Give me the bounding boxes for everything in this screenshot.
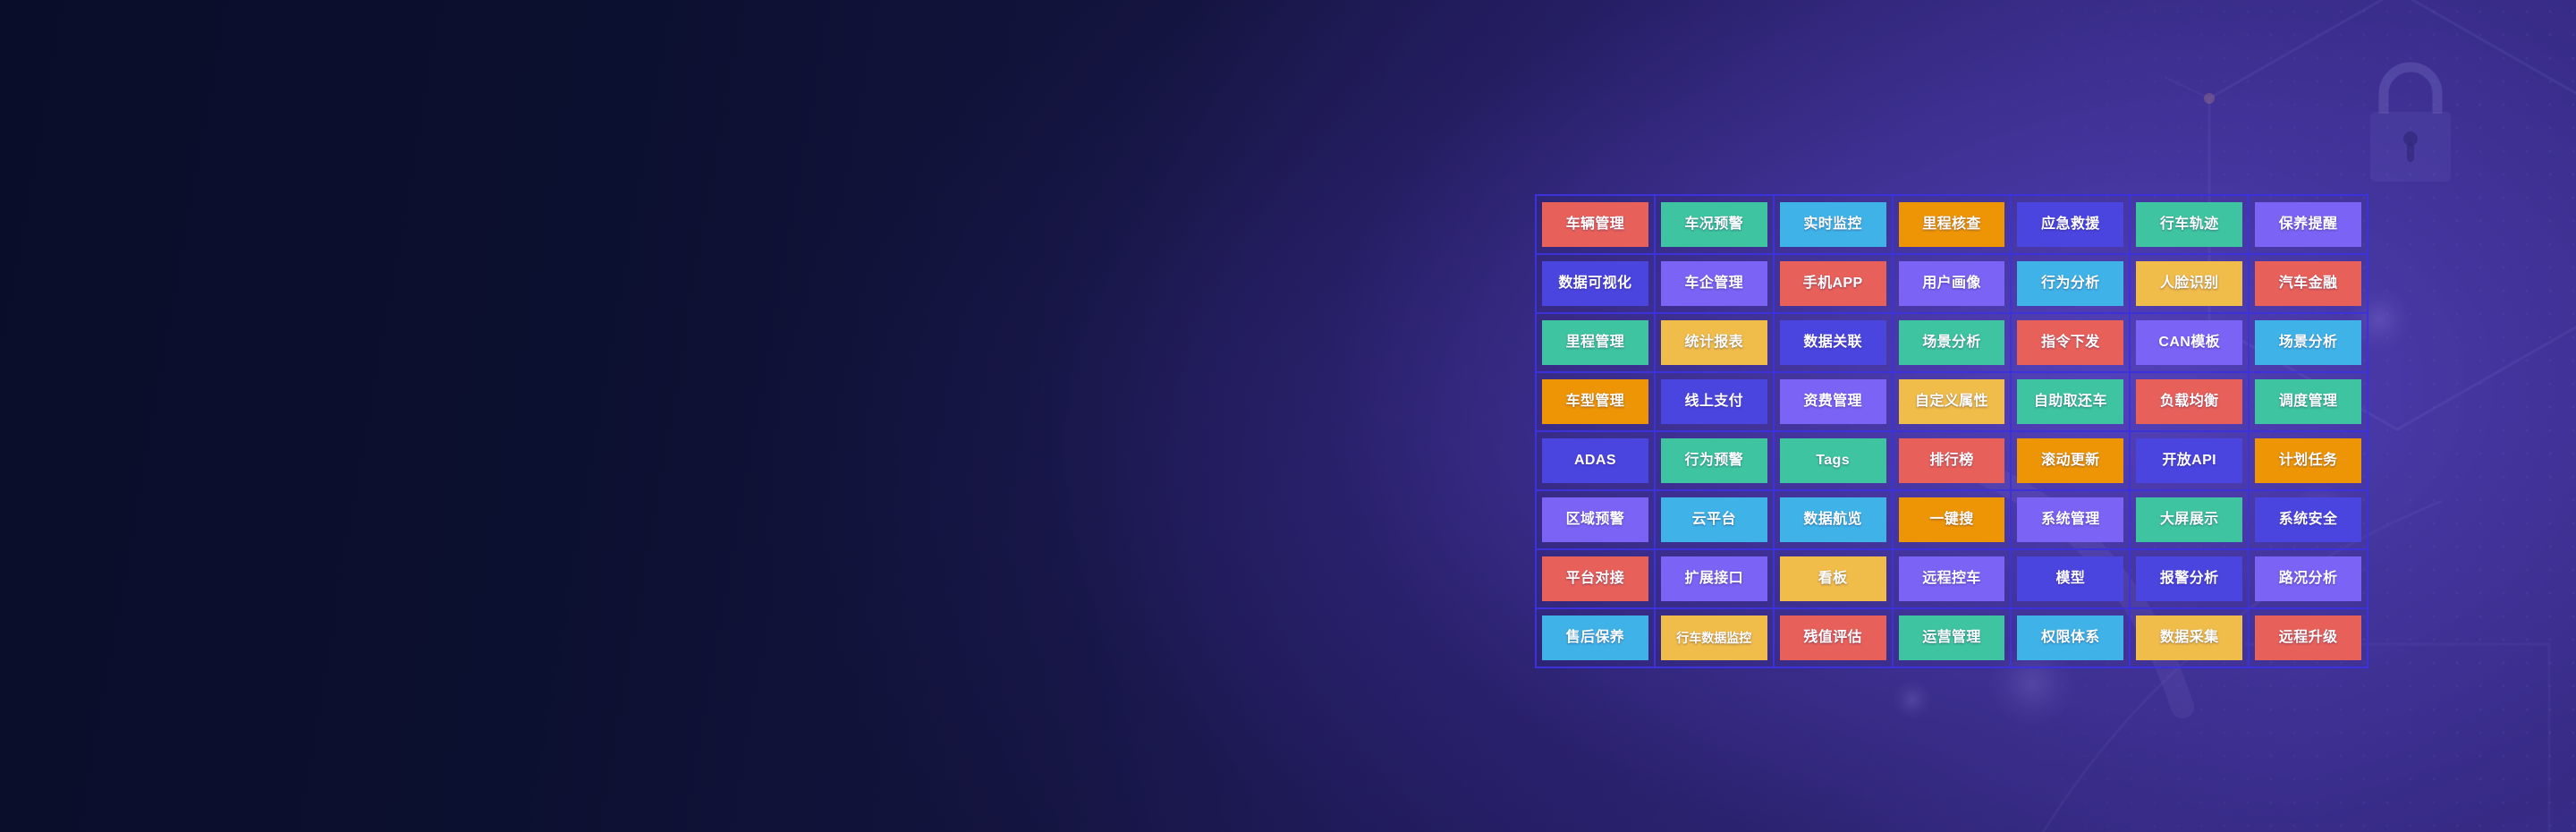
feature-tile-swatch: 场景分析 [1899,320,2005,365]
feature-tile[interactable]: 车企管理 [1654,253,1775,314]
feature-tile-label: 远程控车 [1922,572,1981,586]
feature-tile-swatch: 远程控车 [1899,556,2005,601]
feature-tile[interactable]: 实时监控 [1773,194,1894,255]
feature-tile-label: 数据可视化 [1558,276,1631,291]
feature-tile-swatch: 行车轨迹 [2136,202,2242,247]
feature-tile[interactable]: 行车轨迹 [2129,194,2250,255]
feature-tile-swatch: 自定义属性 [1899,379,2005,424]
feature-tile-label: 场景分析 [1922,335,1981,350]
feature-tile[interactable]: 系统管理 [2010,489,2131,550]
feature-tile-label: 行为预警 [1684,454,1743,468]
feature-tile-label: 用户画像 [1922,276,1981,291]
feature-tile-swatch: 调度管理 [2255,379,2361,424]
feature-tile-swatch: 用户画像 [1899,261,2005,306]
feature-tile[interactable]: 应急救援 [2010,194,2131,255]
feature-tile-swatch: 数据关联 [1780,320,1886,365]
feature-tile-swatch: 一键搜 [1899,497,2005,542]
feature-tile[interactable]: 里程管理 [1535,312,1656,373]
feature-tile-swatch: 区域预警 [1542,497,1648,542]
feature-tile-swatch: 指令下发 [2017,320,2123,365]
feature-tile-label: 里程核查 [1922,217,1981,232]
feature-tile-swatch: 路况分析 [2255,556,2361,601]
feature-tile-label: 数据采集 [2160,631,2219,645]
feature-tile[interactable]: 人脸识别 [2129,253,2250,314]
feature-tile-swatch: 数据可视化 [1542,261,1648,306]
feature-tile-label: 平台对接 [1566,572,1625,586]
feature-tile-swatch: CAN模板 [2136,320,2242,365]
feature-tile[interactable]: 一键搜 [1892,489,2012,550]
feature-tile[interactable]: 场景分析 [2248,312,2368,373]
feature-tile[interactable]: 数据关联 [1773,312,1894,373]
feature-tile[interactable]: 区域预警 [1535,489,1656,550]
feature-tile-label: 滚动更新 [2041,454,2100,468]
feature-tile-label: 模型 [2055,572,2085,586]
feature-tile-label: 车企管理 [1684,276,1743,291]
feature-tile-label: 统计报表 [1684,335,1743,350]
feature-tile-label: 云平台 [1692,513,1736,527]
feature-tile-swatch: 排行榜 [1899,438,2005,483]
feature-tile-label: 残值评估 [1803,631,1862,645]
feature-tile-swatch: 负载均衡 [2136,379,2242,424]
feature-tile-label: 保养提醒 [2279,217,2338,232]
feature-tile-swatch: 报警分析 [2136,556,2242,601]
feature-tile-label: 资费管理 [1803,395,1862,409]
feature-tile[interactable]: 手机APP [1773,253,1894,314]
feature-tile-label: 行为分析 [2041,276,2100,291]
feature-tile-swatch: 行为预警 [1661,438,1767,483]
feature-tile-label: 车型管理 [1566,395,1625,409]
feature-tile-label: 车辆管理 [1566,217,1625,232]
feature-tile-label: 看板 [1818,572,1848,586]
feature-tile[interactable]: 运营管理 [1892,607,2012,668]
feature-tile-label: 指令下发 [2041,335,2100,350]
feature-tile-label: 报警分析 [2160,572,2219,586]
feature-tile-swatch: 扩展接口 [1661,556,1767,601]
feature-tile[interactable]: 自定义属性 [1892,371,2012,432]
feature-tile[interactable]: 行为预警 [1654,430,1775,491]
feature-tile-label: ADAS [1574,454,1616,468]
feature-tile-swatch: 数据航览 [1780,497,1886,542]
feature-tile[interactable]: 汽车金融 [2248,253,2368,314]
feature-tile[interactable]: 大屏展示 [2129,489,2250,550]
feature-tile-label: 人脸识别 [2160,276,2219,291]
feature-tile-label: 行车轨迹 [2160,217,2219,232]
feature-tile[interactable]: 车型管理 [1535,371,1656,432]
feature-tile-swatch: ADAS [1542,438,1648,483]
feature-tile-swatch: 看板 [1780,556,1886,601]
feature-tile-label: 一键搜 [1929,513,1973,527]
feature-tile[interactable]: 计划任务 [2248,430,2368,491]
feature-tile-swatch: 云平台 [1661,497,1767,542]
feature-tile-swatch: 系统管理 [2017,497,2123,542]
feature-tile-label: 汽车金融 [2279,276,2338,291]
feature-tile-swatch: 应急救援 [2017,202,2123,247]
feature-tile-label: 开放API [2162,454,2216,468]
feature-tile[interactable]: 远程升级 [2248,607,2368,668]
feature-tile-swatch: 数据采集 [2136,616,2242,660]
feature-tile-label: 区域预警 [1566,513,1625,527]
feature-tile-swatch: 平台对接 [1542,556,1648,601]
feature-tile-swatch: 车辆管理 [1542,202,1648,247]
feature-tile-swatch: 计划任务 [2255,438,2361,483]
feature-tile[interactable]: 用户画像 [1892,253,2012,314]
feature-tile-label: CAN模板 [2158,335,2220,350]
feature-tile[interactable]: CAN模板 [2129,312,2250,373]
feature-tile-swatch: 线上支付 [1661,379,1767,424]
feature-tile[interactable]: Tags [1773,430,1894,491]
feature-tile-swatch: 资费管理 [1780,379,1886,424]
feature-tile-label: 线上支付 [1684,395,1743,409]
feature-tile-label: 自定义属性 [1915,395,1988,409]
feature-tile-swatch: 远程升级 [2255,616,2361,660]
padlock-icon [2352,49,2469,197]
feature-tile[interactable]: 里程核查 [1892,194,2012,255]
screen-root: 车辆管理车况预警实时监控里程核查应急救援行车轨迹保养提醒数据可视化车企管理手机A… [0,0,2576,832]
feature-tile-swatch: 行为分析 [2017,261,2123,306]
feature-tile-label: 里程管理 [1566,335,1625,350]
feature-tile-swatch: 实时监控 [1780,202,1886,247]
feature-tile-label: 数据航览 [1803,513,1862,527]
feature-tile[interactable]: 排行榜 [1892,430,2012,491]
feature-tile[interactable]: 开放API [2129,430,2250,491]
feature-tile[interactable]: 报警分析 [2129,548,2250,609]
feature-tile-label: 手机APP [1803,276,1863,291]
feature-tile[interactable]: 负载均衡 [2129,371,2250,432]
feature-tile-swatch: 滚动更新 [2017,438,2123,483]
feature-tile-label: 车况预警 [1684,217,1743,232]
feature-tile[interactable]: 远程控车 [1892,548,2012,609]
feature-tile[interactable]: 数据航览 [1773,489,1894,550]
feature-tile-label: 远程升级 [2279,631,2338,645]
feature-tile-label: 大屏展示 [2160,513,2219,527]
feature-tile-label: 排行榜 [1929,454,1973,468]
feature-tile[interactable]: 车况预警 [1654,194,1775,255]
feature-tile-swatch: 售后保养 [1542,616,1648,660]
feature-tag-grid: 车辆管理车况预警实时监控里程核查应急救援行车轨迹保养提醒数据可视化车企管理手机A… [1536,195,2368,667]
feature-tile[interactable]: 扩展接口 [1654,548,1775,609]
feature-tile-swatch: 模型 [2017,556,2123,601]
feature-tile[interactable]: 残值评估 [1773,607,1894,668]
feature-tile[interactable]: 云平台 [1654,489,1775,550]
feature-tile-label: 系统安全 [2279,513,2338,527]
feature-tile-swatch: 汽车金融 [2255,261,2361,306]
feature-tile[interactable]: 数据采集 [2129,607,2250,668]
feature-tile[interactable]: 调度管理 [2248,371,2368,432]
feature-tile[interactable]: 模型 [2010,548,2131,609]
feature-tile-label: 数据关联 [1803,335,1862,350]
feature-tile[interactable]: 滚动更新 [2010,430,2131,491]
feature-tile-label: 调度管理 [2279,395,2338,409]
feature-tile-label: 计划任务 [2279,454,2338,468]
feature-tile-label: 权限体系 [2041,631,2100,645]
feature-tile-swatch: 场景分析 [2255,320,2361,365]
feature-tile-label: 实时监控 [1803,217,1862,232]
feature-tile-swatch: 车企管理 [1661,261,1767,306]
feature-tile[interactable]: 统计报表 [1654,312,1775,373]
feature-tile-label: 运营管理 [1922,631,1981,645]
feature-tile[interactable]: 看板 [1773,548,1894,609]
feature-tile[interactable]: 系统安全 [2248,489,2368,550]
feature-tile-swatch: 里程管理 [1542,320,1648,365]
feature-tile[interactable]: 售后保养 [1535,607,1656,668]
feature-tile[interactable]: 车辆管理 [1535,194,1656,255]
feature-tile-swatch: 人脸识别 [2136,261,2242,306]
feature-tile-swatch: 统计报表 [1661,320,1767,365]
feature-tile-label: 售后保养 [1566,631,1625,645]
feature-tile-label: 路况分析 [2279,572,2338,586]
feature-tile-label: 应急救援 [2041,217,2100,232]
feature-tile-swatch: 系统安全 [2255,497,2361,542]
feature-tile[interactable]: 自助取还车 [2010,371,2131,432]
feature-tile-swatch: 保养提醒 [2255,202,2361,247]
feature-tile-swatch: 行车数据监控 [1661,616,1767,660]
feature-tile[interactable]: 路况分析 [2248,548,2368,609]
feature-tile-label: 系统管理 [2041,513,2100,527]
feature-tile-swatch: 开放API [2136,438,2242,483]
feature-tile[interactable]: ADAS [1535,430,1656,491]
feature-tile[interactable]: 资费管理 [1773,371,1894,432]
feature-tile[interactable]: 行车数据监控 [1654,607,1775,668]
feature-tile-swatch: 车况预警 [1661,202,1767,247]
feature-tile-label: 场景分析 [2279,335,2338,350]
feature-tile[interactable]: 指令下发 [2010,312,2131,373]
feature-tile[interactable]: 数据可视化 [1535,253,1656,314]
feature-tile-swatch: 里程核查 [1899,202,2005,247]
feature-tile-swatch: 车型管理 [1542,379,1648,424]
feature-tile-label: 自助取还车 [2034,395,2107,409]
feature-tile-swatch: Tags [1780,438,1886,483]
feature-tile-swatch: 运营管理 [1899,616,2005,660]
feature-tile-swatch: 手机APP [1780,261,1886,306]
feature-tile[interactable]: 保养提醒 [2248,194,2368,255]
feature-tile[interactable]: 场景分析 [1892,312,2012,373]
feature-tile-swatch: 权限体系 [2017,616,2123,660]
feature-tile-swatch: 自助取还车 [2017,379,2123,424]
feature-tile[interactable]: 权限体系 [2010,607,2131,668]
feature-tile[interactable]: 平台对接 [1535,548,1656,609]
feature-tile-swatch: 残值评估 [1780,616,1886,660]
feature-tile-label: 扩展接口 [1684,572,1743,586]
feature-tile[interactable]: 行为分析 [2010,253,2131,314]
glow-orb [1893,680,1932,719]
feature-tile-swatch: 大屏展示 [2136,497,2242,542]
feature-tile-label: 行车数据监控 [1676,632,1751,644]
feature-tile-label: 负载均衡 [2160,395,2219,409]
feature-tile[interactable]: 线上支付 [1654,371,1775,432]
feature-tile-label: Tags [1816,454,1850,468]
